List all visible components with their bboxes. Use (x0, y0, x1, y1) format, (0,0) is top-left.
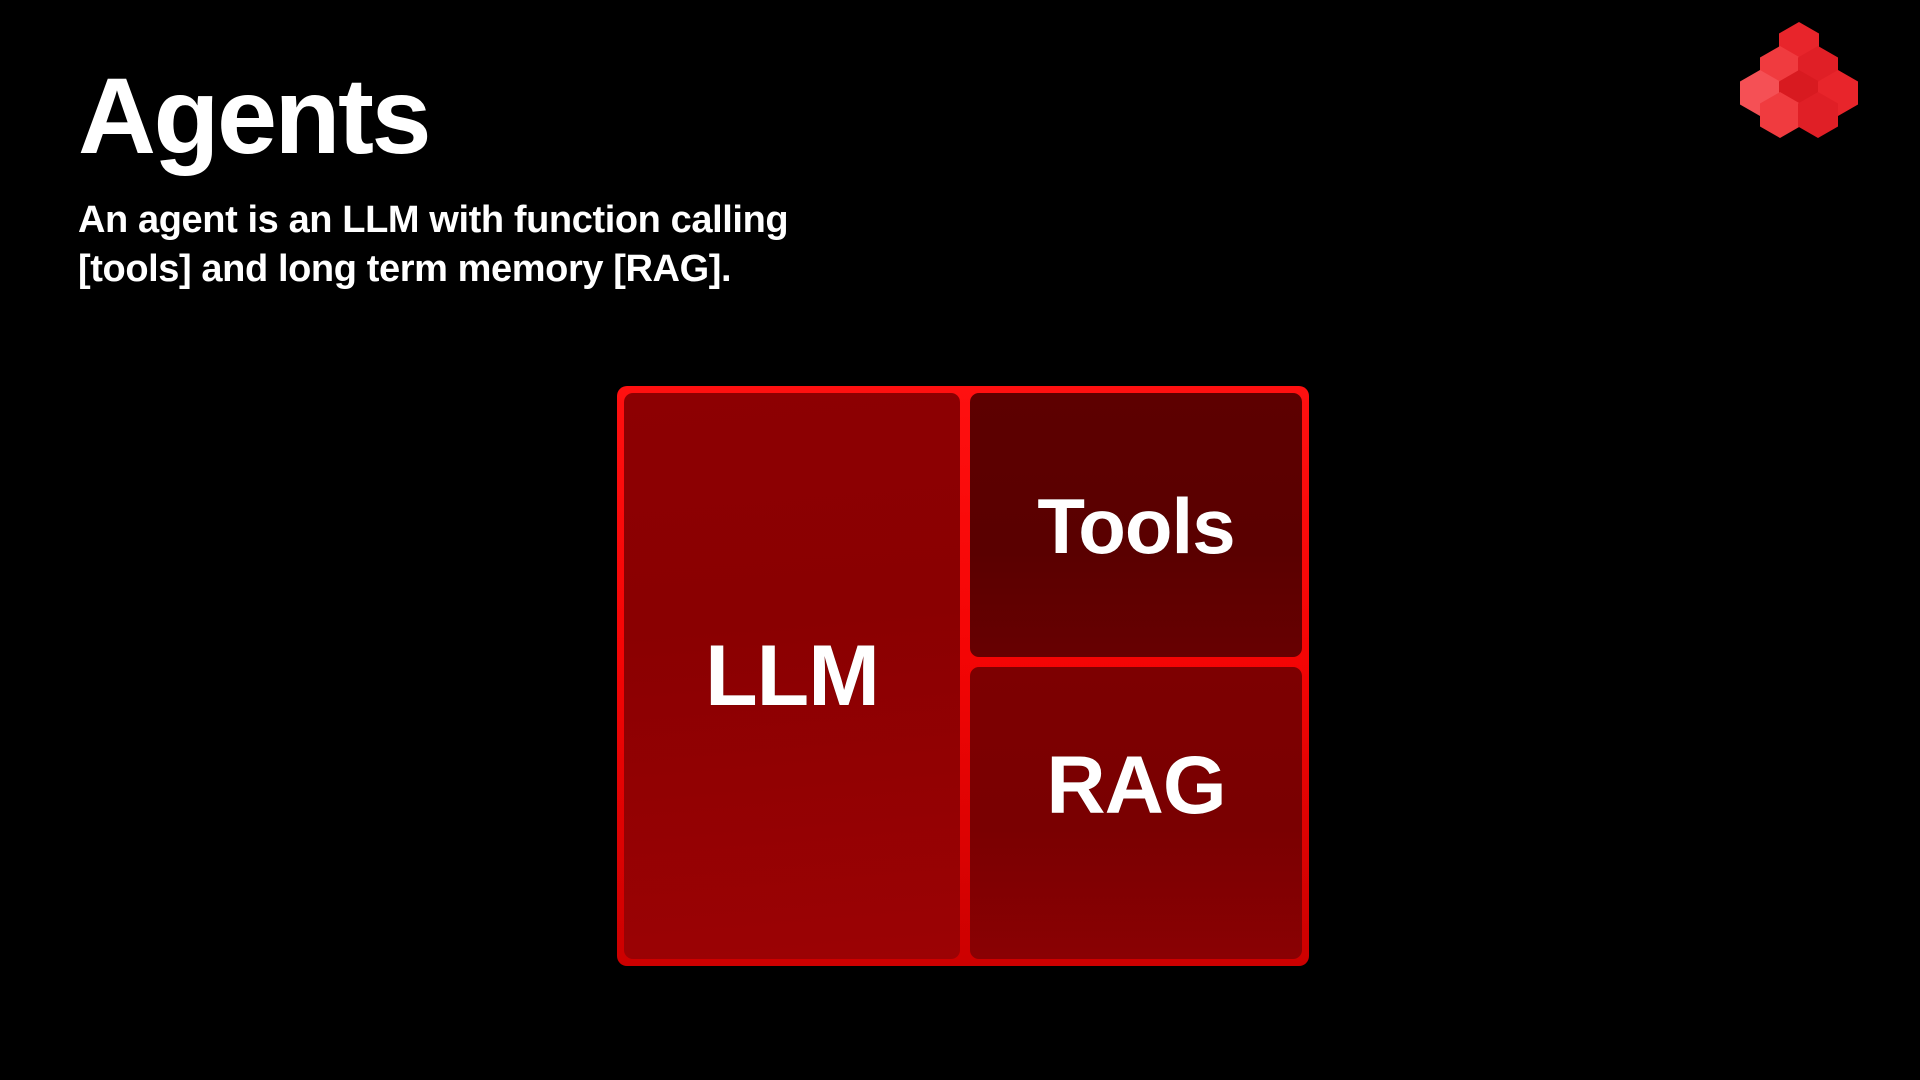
panel-tools-label: Tools (1037, 487, 1234, 565)
diagram-right-column: Tools RAG (970, 393, 1302, 959)
header-text-block: Agents An agent is an LLM with function … (78, 62, 1078, 293)
page-title: Agents (78, 62, 1078, 170)
panel-rag-label: RAG (1046, 745, 1225, 827)
subtitle-line-1: An agent is an LLM with function calling (78, 196, 1078, 245)
hexagon-cluster-logo (1740, 22, 1858, 132)
diagram-left-column: LLM (624, 393, 960, 959)
slide-root: Agents An agent is an LLM with function … (0, 0, 1920, 1080)
panel-rag[interactable]: RAG (970, 667, 1302, 959)
agent-architecture-diagram: LLM Tools RAG (617, 386, 1309, 966)
panel-tools[interactable]: Tools (970, 393, 1302, 657)
subtitle-line-2: [tools] and long term memory [RAG]. (78, 245, 1078, 294)
panel-llm-label: LLM (705, 633, 879, 719)
slide-subtitle: An agent is an LLM with function calling… (78, 196, 1078, 293)
panel-llm[interactable]: LLM (624, 393, 960, 959)
